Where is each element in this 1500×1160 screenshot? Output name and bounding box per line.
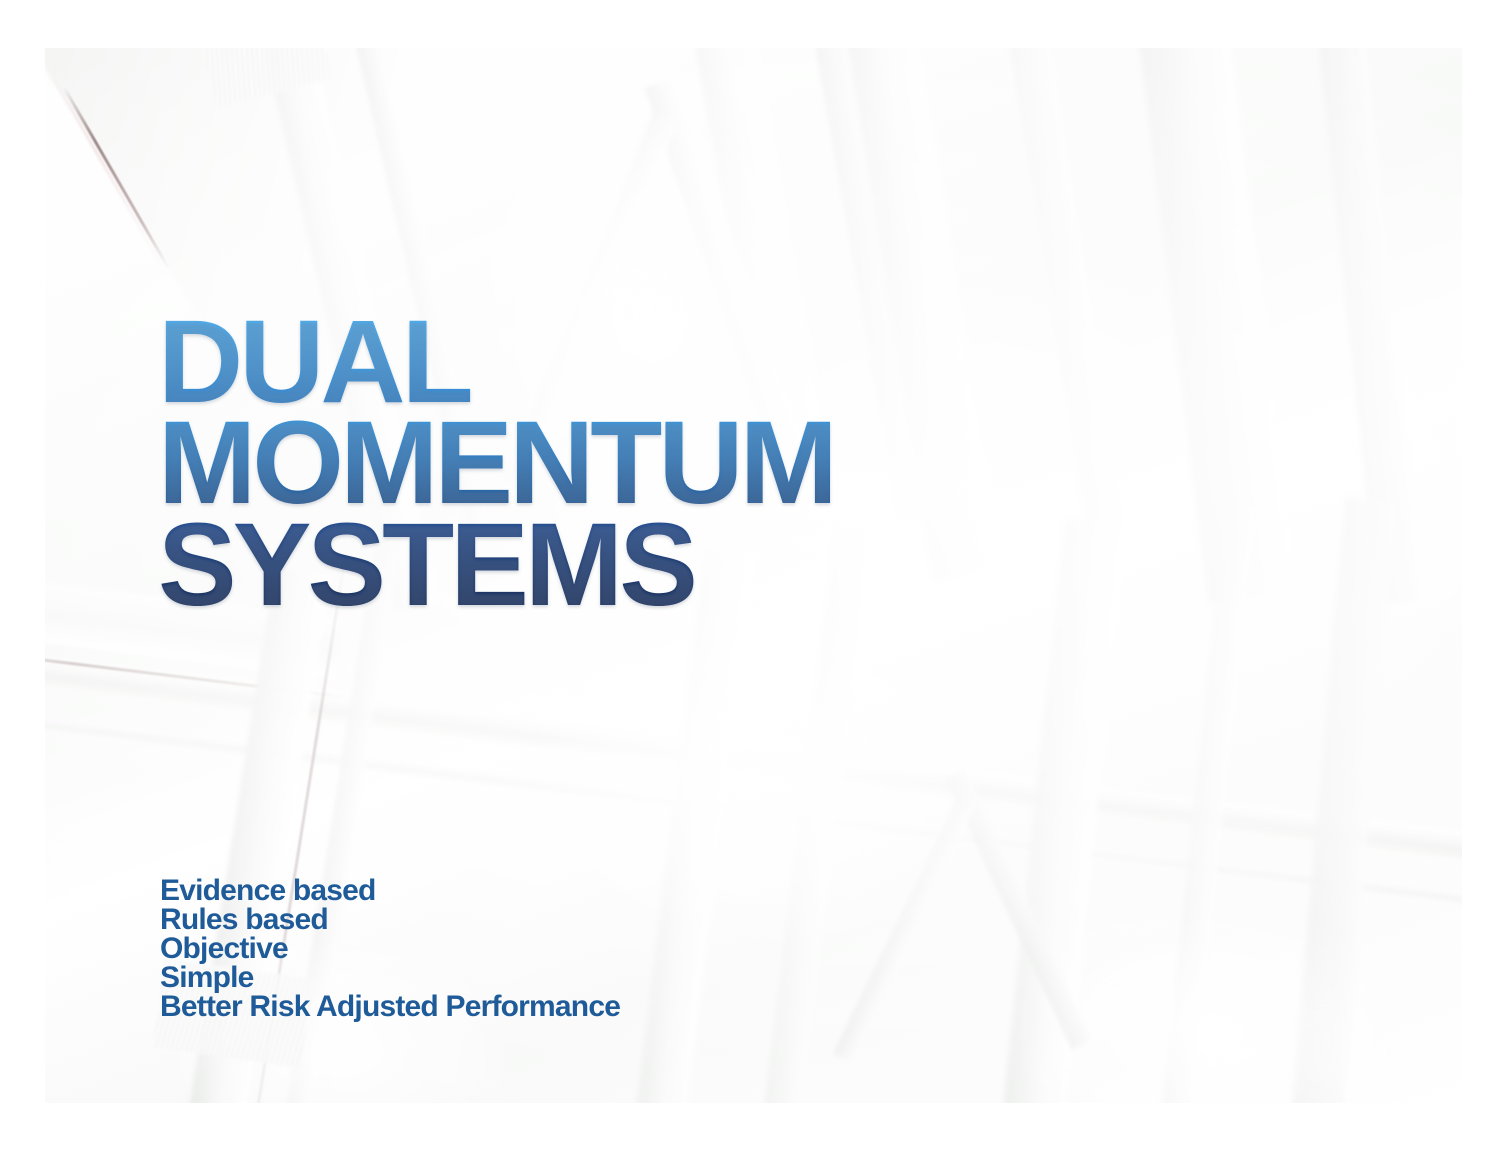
ceiling-edge-line	[62, 86, 170, 269]
ceiling-beam	[1287, 498, 1397, 1103]
ceiling-beam	[629, 548, 754, 1103]
skylight-glow	[1020, 908, 1403, 1103]
title-line-systems: SYSTEMS	[158, 515, 834, 616]
list-item: Simple	[160, 963, 620, 992]
list-item: Better Risk Adjusted Performance	[160, 992, 620, 1021]
list-item: Rules based	[160, 905, 620, 934]
ceiling-truss-beam	[945, 769, 1092, 1050]
ceiling-truss-beam	[1005, 48, 1129, 551]
slide-title: DUAL MOMENTUM SYSTEMS	[158, 312, 834, 616]
feature-list: Evidence based Rules based Objective Sim…	[160, 876, 620, 1021]
title-slide: DUAL MOMENTUM SYSTEMS Evidence based Rul…	[0, 0, 1500, 1160]
ceiling-beam	[997, 518, 1127, 1103]
ceiling-edge-line	[45, 644, 352, 699]
ceiling-rail	[45, 648, 1462, 879]
ceiling-truss-beam	[1135, 48, 1297, 604]
ceiling-panel	[45, 48, 490, 335]
ceiling-beam	[1156, 508, 1255, 1103]
ceiling-truss-beam	[845, 48, 1002, 581]
ceiling-truss-beam	[833, 793, 978, 1062]
ceiling-edge-line	[49, 72, 166, 272]
list-item: Evidence based	[160, 876, 620, 905]
ceiling-truss-beam	[1315, 48, 1423, 605]
ceiling-vent-grille	[200, 48, 333, 108]
list-item: Objective	[160, 934, 620, 963]
